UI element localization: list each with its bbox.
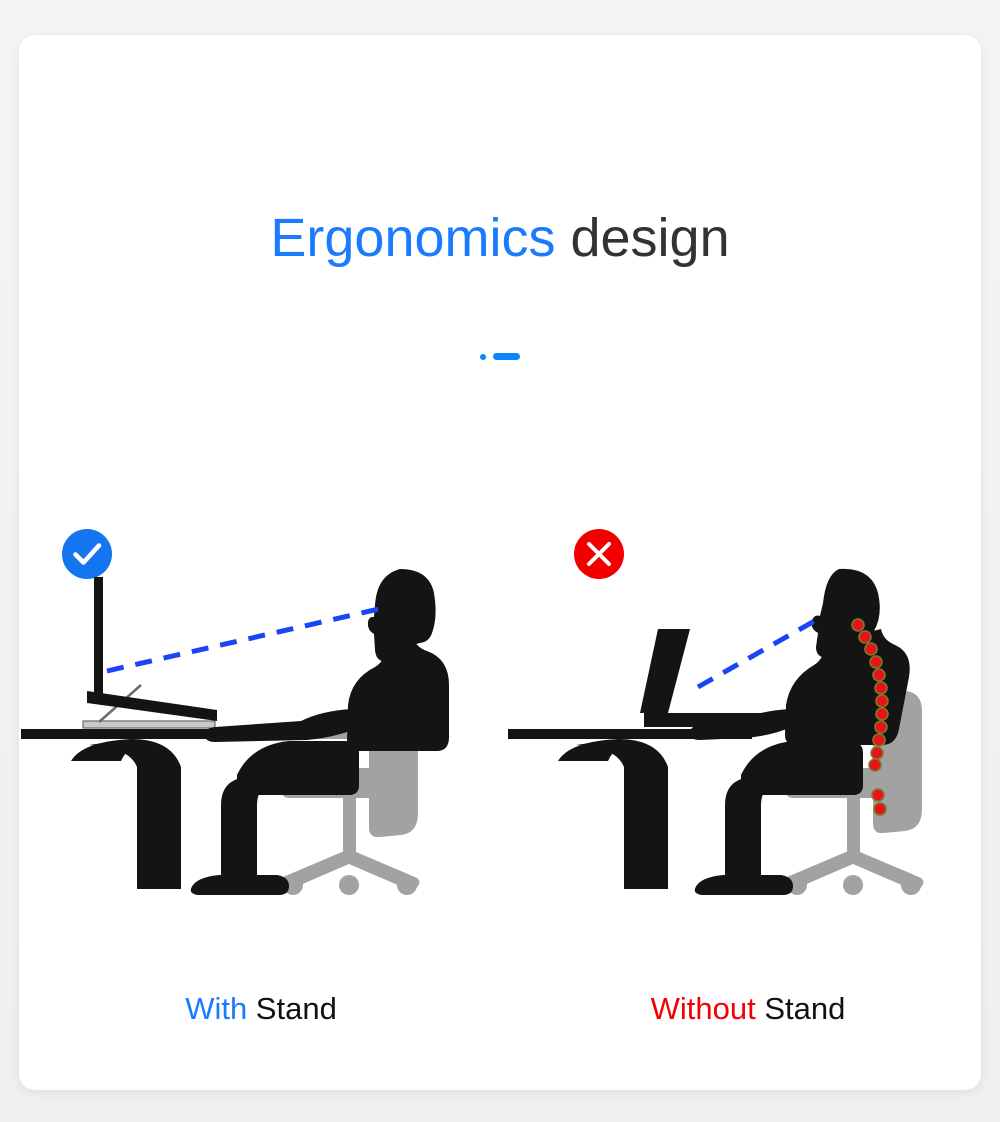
caption-plain-with: Stand xyxy=(247,991,337,1026)
caption-accent-with: With xyxy=(185,991,247,1026)
illustration-with-stand xyxy=(21,563,501,933)
panel-without-stand: Without Stand xyxy=(508,485,981,1065)
panel-with-stand: With Stand xyxy=(21,485,501,1065)
caption-with-stand: With Stand xyxy=(21,990,501,1028)
page-title-accent: Ergonomics xyxy=(270,208,555,268)
ergonomics-card: Ergonomics design xyxy=(19,35,981,1090)
sightline-dashed-left xyxy=(107,609,379,671)
title-divider xyxy=(19,353,981,360)
laptop-flat xyxy=(640,629,766,727)
caption-plain-without: Stand xyxy=(756,991,846,1026)
caption-accent-without: Without xyxy=(651,991,756,1026)
laptop-screen-flat xyxy=(640,629,690,713)
illustration-with-stand-svg xyxy=(21,563,501,933)
laptop-screen xyxy=(94,577,103,695)
page-title-plain: design xyxy=(555,208,729,268)
illustration-without-stand xyxy=(508,563,981,933)
stand-base xyxy=(83,721,215,728)
divider-dot-icon xyxy=(480,354,486,360)
desk-right xyxy=(508,729,752,889)
page-root: Ergonomics design xyxy=(0,0,1000,1122)
person-silhouette-left xyxy=(191,569,449,895)
caption-without-stand: Without Stand xyxy=(508,990,981,1028)
page-title: Ergonomics design xyxy=(19,207,981,269)
divider-dash-icon xyxy=(493,353,520,360)
illustration-without-stand-svg xyxy=(508,563,981,933)
